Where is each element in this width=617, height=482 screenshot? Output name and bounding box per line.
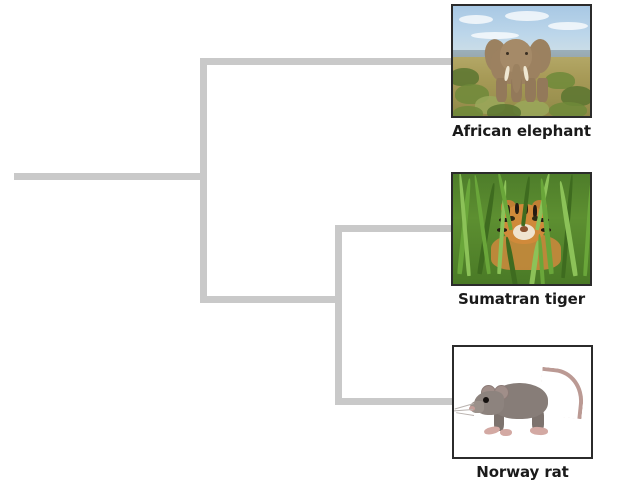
bush-shape xyxy=(487,104,521,118)
branch-root-stem xyxy=(14,173,207,180)
african-elephant-label: African elephant xyxy=(451,122,592,140)
tiger-nose xyxy=(520,226,528,232)
african-elephant-photo xyxy=(451,4,592,118)
rat-foot-mid xyxy=(500,429,512,436)
cloud-icon xyxy=(471,32,519,39)
norway-rat-label: Norway rat xyxy=(452,463,593,481)
taxon-sumatran-tiger[interactable]: Sumatran tiger xyxy=(451,172,592,308)
elephant-leg xyxy=(496,78,507,102)
branch-to-norway-rat xyxy=(335,398,452,405)
cloud-icon xyxy=(505,11,549,21)
bush-shape xyxy=(549,102,587,118)
branch-to-sumatran-tiger xyxy=(335,225,451,232)
taxon-norway-rat[interactable]: Norway rat xyxy=(452,345,593,481)
cloud-icon xyxy=(459,15,493,24)
cladogram-diagram: African elephant xyxy=(0,0,617,482)
branch-to-african-elephant xyxy=(200,58,451,65)
taxon-african-elephant[interactable]: African elephant xyxy=(451,4,592,140)
norway-rat-photo xyxy=(452,345,593,459)
elephant-eye xyxy=(506,52,509,55)
elephant-leg xyxy=(525,78,536,102)
rat-eye xyxy=(483,397,489,403)
elephant-leg xyxy=(537,78,548,102)
sumatran-tiger-photo xyxy=(451,172,592,286)
bush-shape xyxy=(453,106,483,118)
tiger-stripe xyxy=(515,203,519,214)
sumatran-tiger-label: Sumatran tiger xyxy=(451,290,592,308)
cloud-icon xyxy=(548,22,588,30)
elephant-trunk xyxy=(512,64,521,93)
branch-root-vertical xyxy=(200,58,207,303)
elephant-eye xyxy=(525,52,528,55)
branch-root-to-node2 xyxy=(200,296,335,303)
branch-node2-vertical xyxy=(335,225,342,405)
